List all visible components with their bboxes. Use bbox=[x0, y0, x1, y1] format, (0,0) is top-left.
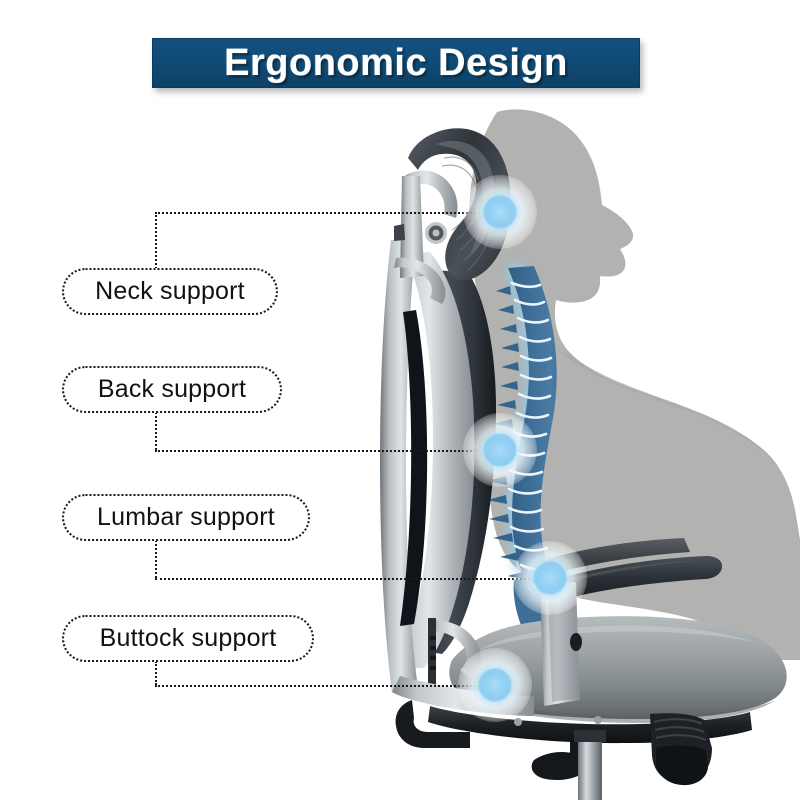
connector-lumbar-vertical bbox=[155, 540, 157, 578]
connector-buttock-vertical bbox=[155, 661, 157, 685]
infographic-canvas: Ergonomic Design Neck support Back suppo… bbox=[0, 0, 800, 800]
callout-lumbar-support[interactable]: Lumbar support bbox=[62, 494, 310, 541]
connector-back-vertical bbox=[155, 412, 157, 450]
callout-back-support-label: Back support bbox=[98, 377, 246, 402]
connector-neck-horizontal bbox=[155, 212, 500, 214]
callout-neck-support[interactable]: Neck support bbox=[62, 268, 278, 315]
callout-buttock-support-label: Buttock support bbox=[100, 626, 277, 651]
callout-lumbar-support-label: Lumbar support bbox=[97, 505, 275, 530]
connector-back-horizontal bbox=[155, 450, 500, 452]
callout-buttock-support[interactable]: Buttock support bbox=[62, 615, 314, 662]
callout-back-support[interactable]: Back support bbox=[62, 366, 282, 413]
connector-lumbar-horizontal bbox=[155, 578, 550, 580]
connector-buttock-horizontal bbox=[155, 685, 495, 687]
callout-neck-support-label: Neck support bbox=[95, 279, 245, 304]
